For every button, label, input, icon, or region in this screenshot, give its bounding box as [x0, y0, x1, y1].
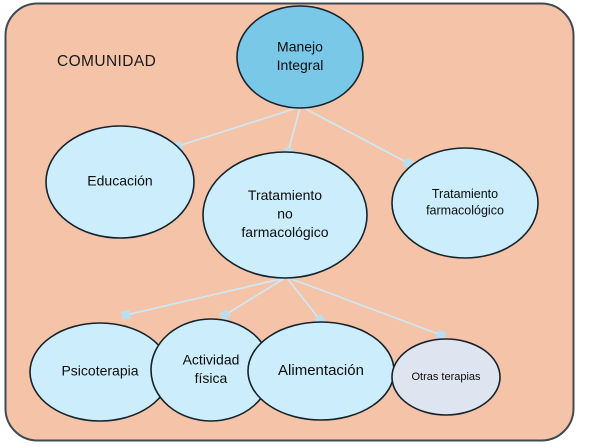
node-manejo-integral-label: Manejo	[277, 38, 323, 54]
node-tratamiento-no-farmacologico-label: Tratamiento	[248, 187, 322, 203]
node-tratamiento-farmacologico[interactable]: Tratamientofarmacológico	[392, 148, 538, 258]
node-alimentacion-label: Alimentación	[278, 362, 364, 379]
container-title-comunidad: COMUNIDAD	[57, 53, 156, 70]
node-psicoterapia-label: Psicoterapia	[61, 363, 138, 379]
node-tratamiento-no-farmacologico-label: no	[277, 206, 293, 222]
node-tratamiento-farmacologico-label: Tratamiento	[432, 187, 498, 201]
node-tratamiento-farmacologico-label: farmacológico	[426, 204, 504, 218]
node-actividad-fisica-label: física	[195, 370, 228, 386]
node-actividad-fisica-label: Actividad	[183, 351, 240, 367]
node-tratamiento-no-farmacologico-label: farmacológico	[241, 224, 328, 240]
node-manejo-integral[interactable]: ManejoIntegral	[237, 6, 363, 108]
concept-map-svg: COMUNIDAD ManejoIntegralEducaciónTratami…	[0, 0, 612, 447]
node-otras-terapias-label: Otras terapias	[411, 371, 481, 383]
node-manejo-integral-label: Integral	[277, 57, 324, 73]
node-educacion[interactable]: Educación	[46, 126, 194, 238]
node-educacion-label: Educación	[87, 173, 152, 189]
node-psicoterapia[interactable]: Psicoterapia	[30, 323, 170, 421]
node-alimentacion[interactable]: Alimentación	[248, 322, 394, 420]
node-tratamiento-no-farmacologico[interactable]: Tratamientonofarmacológico	[203, 152, 367, 278]
node-otras-terapias[interactable]: Otras terapias	[392, 339, 500, 415]
diagram-canvas: COMUNIDAD ManejoIntegralEducaciónTratami…	[0, 0, 612, 447]
